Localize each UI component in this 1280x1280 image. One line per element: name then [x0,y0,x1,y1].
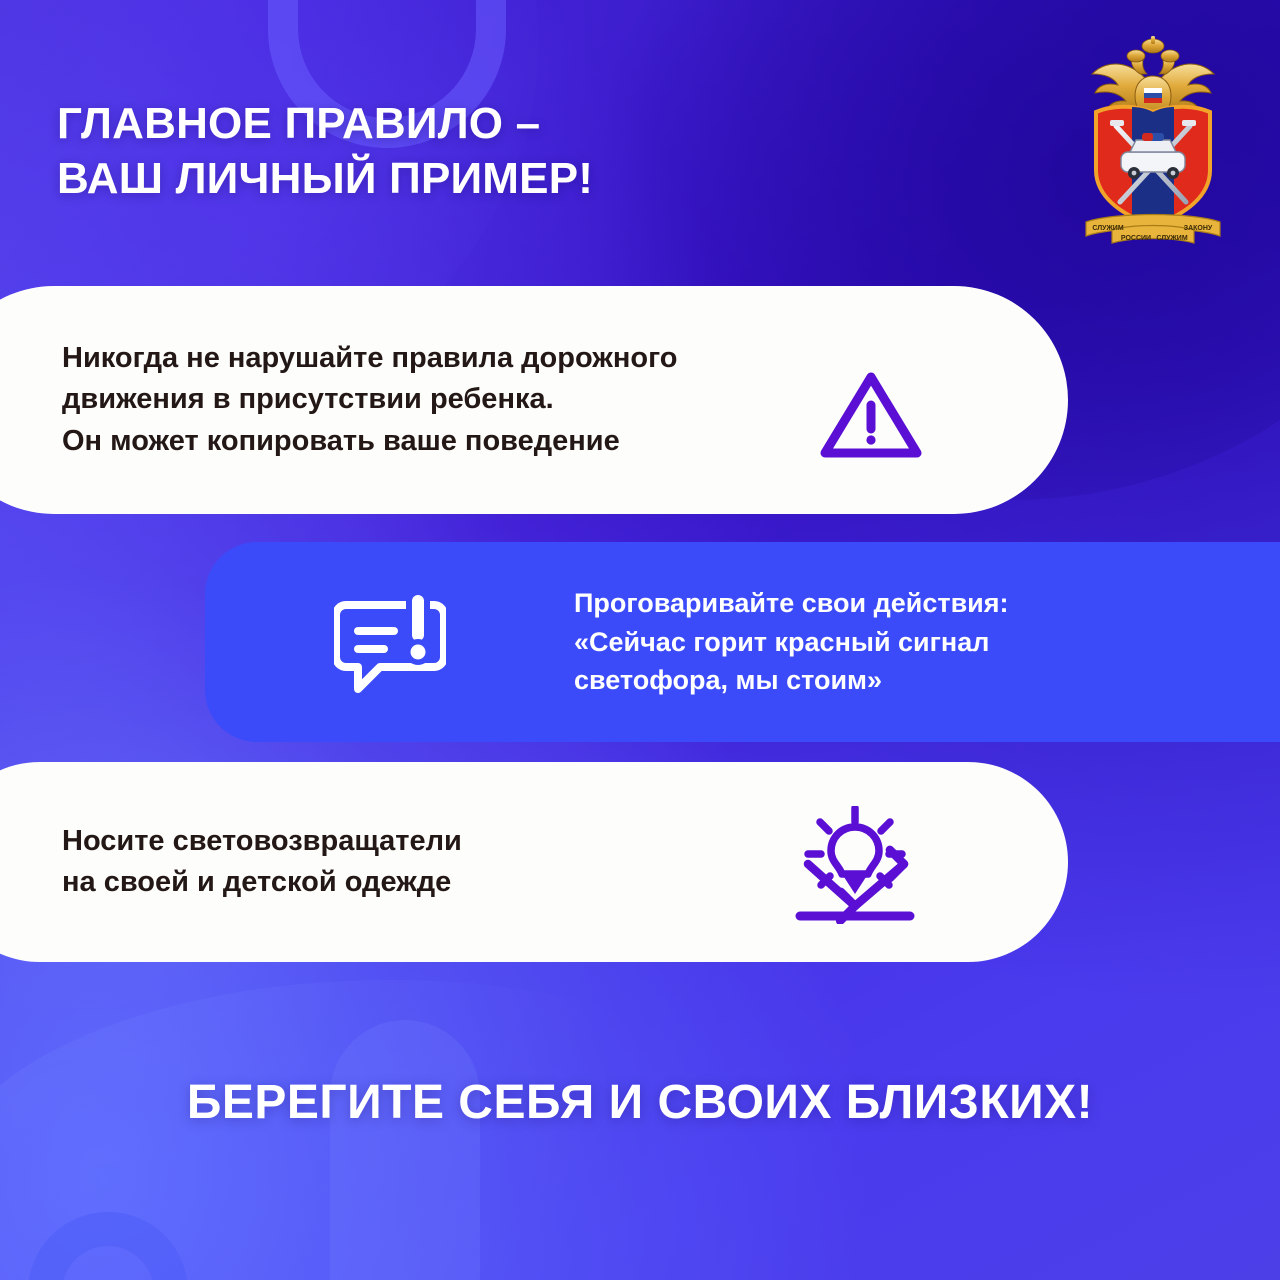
rule-card-2: Проговаривайте свои действия: «Сейчас го… [205,542,1280,742]
speech-bubble-alert-icon [325,587,455,702]
rule-card-1: Никогда не нарушайте правила дорожного д… [0,286,1068,514]
exclamation-mark [405,599,431,665]
ribbon-left-text: СЛУЖИМ [1092,225,1124,232]
warning-triangle-icon [806,360,936,470]
eagle-heads [1127,36,1179,74]
emblem-ribbon: СЛУЖИМ ЗАКОНУ РОССИИ СЛУЖИМ [1086,215,1220,244]
reflector-light-icon [780,802,930,927]
ribbon-center-bottom-text: СЛУЖИМ [1156,235,1188,242]
background-arch-bottom [330,1020,480,1280]
page-title: ГЛАВНОЕ ПРАВИЛО – ВАШ ЛИЧНЫЙ ПРИМЕР! [57,96,593,207]
gibdd-emblem: СЛУЖИМ ЗАКОНУ РОССИИ СЛУЖИМ [1068,30,1238,245]
rule-card-1-text: Никогда не нарушайте правила дорожного д… [62,338,822,462]
rule-card-3: Носите световозвращатели на своей и детс… [0,762,1068,962]
rule-card-3-text: Носите световозвращатели на своей и детс… [62,821,682,903]
ribbon-right-text: ЗАКОНУ [1184,225,1213,232]
ribbon-center-top-text: РОССИИ [1121,235,1151,242]
background-ring-bottom [28,1212,188,1280]
closing-banner: БЕРЕГИТЕ СЕБЯ И СВОИХ БЛИЗКИХ! [0,1075,1280,1130]
poster-root: СЛУЖИМ ЗАКОНУ РОССИИ СЛУЖИМ ГЛАВНОЕ ПРАВ… [0,0,1280,1280]
background-glow-bottom [0,980,840,1280]
rule-card-2-text: Проговаривайте свои действия: «Сейчас го… [574,584,1174,701]
